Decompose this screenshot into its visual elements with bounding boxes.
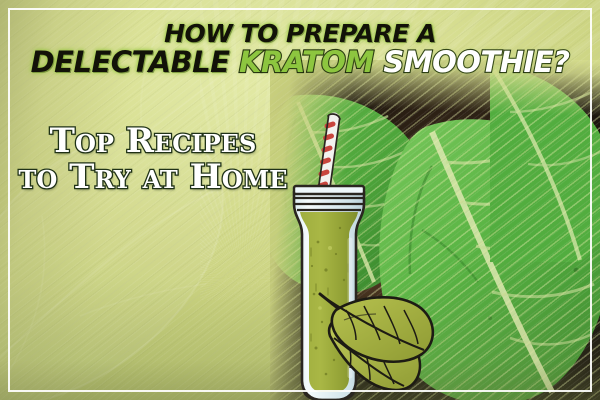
kratom-leaves-illustration — [312, 286, 442, 396]
kratom-smoothie-banner: HOW TO PREPARE A DELECTABLE KRATOM SMOOT… — [0, 0, 600, 400]
